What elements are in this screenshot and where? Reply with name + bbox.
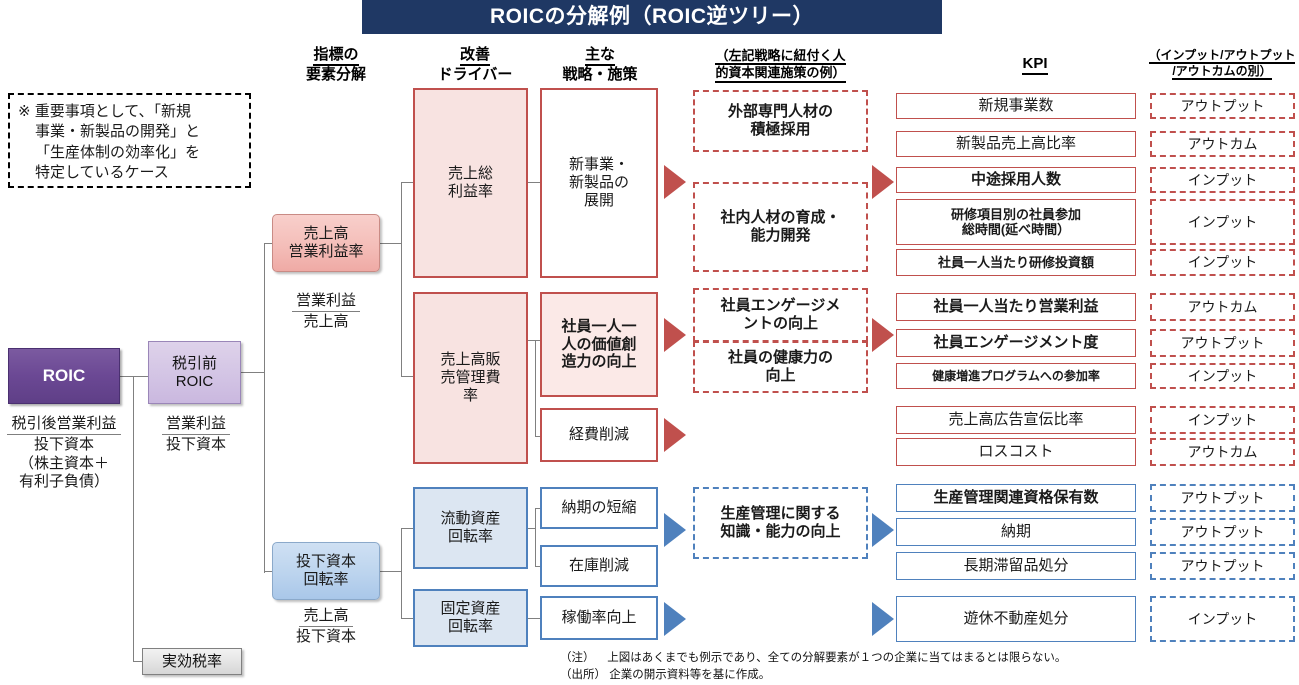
- column-header-line1: （インプット/アウトプット: [1149, 48, 1296, 64]
- footer-note-label: （注）: [560, 650, 604, 667]
- kpi-label: 社員一人当たり研修投資額: [938, 255, 1094, 270]
- hc-production-management-knowledge[interactable]: 生産管理に関する 知識・能力の向上: [693, 487, 868, 559]
- pretax-denominator: 投下資本: [140, 435, 252, 454]
- driver-current-asset-turnover[interactable]: 流動資産 回転率: [413, 487, 528, 569]
- driver-label: 売上高販 売管理費 率: [440, 351, 500, 404]
- note-line-1: ※ 重要事項として、「新規: [18, 102, 241, 122]
- roic-numerator: 税引後営業利益: [7, 415, 120, 435]
- kpi-label: 生産管理関連資格保有数: [933, 489, 1098, 507]
- type-label: アウトプット: [1181, 558, 1265, 575]
- roic-denominator: 投下資本: [0, 435, 128, 454]
- connector-current-vertical: [535, 508, 536, 566]
- type-output-5: アウトプット: [1150, 552, 1295, 580]
- kpi-label: 新規事業数: [978, 97, 1053, 115]
- note-line-3: 「生産体制の効率化」を: [18, 143, 241, 163]
- kpi-health-program-participation[interactable]: 健康増進プログラムへの参加率: [896, 363, 1136, 389]
- hc-employee-health[interactable]: 社員の健康力の 向上: [693, 341, 868, 393]
- connector-sga-vertical: [535, 340, 536, 436]
- column-header-line1: 指標の: [313, 46, 358, 66]
- hc-external-talent-hiring[interactable]: 外部専門人材の 積極採用: [693, 90, 868, 152]
- level2-denominator: 投下資本: [266, 627, 386, 646]
- hc-employee-engagement[interactable]: 社員エンゲージメ ントの向上: [693, 288, 868, 342]
- connector-salesop-vertical: [401, 182, 402, 376]
- roic-denominator-sub2: 有利子負債）: [0, 473, 128, 491]
- sales-operating-margin-box[interactable]: 売上高 営業利益率: [272, 214, 380, 272]
- column-header-improvement-driver: 改善 ドライバー: [420, 46, 530, 83]
- type-output-4: アウトプット: [1150, 518, 1295, 546]
- strategy-label: 在庫削減: [569, 557, 629, 575]
- footer-note-row: （注） 上図はあくまでも例示であり、全ての分解要素が１つの企業に当てはまるとは限…: [560, 650, 1280, 667]
- note-line-4: 特定しているケース: [18, 163, 241, 183]
- effective-tax-rate-box[interactable]: 実効税率: [142, 648, 242, 675]
- kpi-label: 新製品売上高比率: [956, 135, 1076, 153]
- arrow-strategy-to-hc-1: [664, 165, 686, 199]
- pretax-numerator: 営業利益: [162, 415, 230, 435]
- arrow-hc-to-kpi-1: [872, 165, 894, 199]
- footer-source-label: （出所）: [560, 669, 606, 681]
- strategy-cost-reduction[interactable]: 経費削減: [540, 408, 658, 462]
- kpi-label: 社員エンゲージメント度: [934, 334, 1099, 352]
- type-label: アウトプット: [1181, 490, 1265, 507]
- kpi-delivery-time[interactable]: 納期: [896, 518, 1136, 546]
- hc-label: 生産管理に関する 知識・能力の向上: [720, 505, 840, 540]
- footer-source-text: 企業の開示資料等を基に作成。: [609, 669, 770, 681]
- level2-line2: 営業利益率: [288, 243, 363, 260]
- pretax-roic-line2: ROIC: [176, 373, 214, 390]
- column-header-line2: 戦略・施策: [562, 66, 637, 83]
- kpi-label: 研修項目別の社員参加 総時間(延べ時間）: [951, 207, 1081, 238]
- level2-line1: 投下資本: [296, 553, 356, 570]
- type-label: アウトカム: [1188, 299, 1258, 316]
- kpi-label: 中途採用人数: [971, 171, 1061, 189]
- hc-label: 社内人材の育成・ 能力開発: [720, 209, 840, 244]
- column-header-line1: KPI: [1022, 55, 1047, 75]
- strategy-label: 新事業・ 新製品の 展開: [569, 156, 629, 209]
- kpi-long-term-stagnant-disposal[interactable]: 長期滞留品処分: [896, 552, 1136, 580]
- arrow-strategy-to-hc-3: [664, 513, 686, 547]
- kpi-label: ロスコスト: [978, 443, 1053, 461]
- type-label: インプット: [1188, 172, 1258, 189]
- strategy-shorten-lead-time[interactable]: 納期の短縮: [540, 487, 658, 529]
- kpi-production-qualifications[interactable]: 生産管理関連資格保有数: [896, 484, 1136, 512]
- hc-label: 社員エンゲージメ ントの向上: [721, 297, 841, 332]
- connector-pretax-vertical: [264, 243, 265, 573]
- strategy-utilization-improvement[interactable]: 稼働率向上: [540, 596, 658, 640]
- arrow-strategy-to-kpi-costred: [664, 418, 686, 452]
- column-header-line2: 要素分解: [306, 66, 366, 83]
- level2-line1: 売上高: [303, 225, 348, 242]
- footer-source-row: （出所） 企業の開示資料等を基に作成。: [560, 667, 1280, 684]
- type-input-1: インプット: [1150, 167, 1295, 193]
- column-header-human-capital-measures: （左記戦略に紐付く人 的資本関連施策の例）: [683, 48, 878, 83]
- kpi-training-investment-per-employee[interactable]: 社員一人当たり研修投資額: [896, 249, 1136, 276]
- column-header-line2: 的資本関連施策の例）: [715, 65, 845, 82]
- type-outcome-2: アウトカム: [1150, 293, 1295, 321]
- kpi-new-business-count[interactable]: 新規事業数: [896, 93, 1136, 119]
- kpi-new-product-sales-ratio[interactable]: 新製品売上高比率: [896, 131, 1136, 157]
- strategy-label: 稼働率向上: [561, 609, 636, 627]
- kpi-label: 健康増進プログラムへの参加率: [932, 369, 1100, 383]
- roic-box[interactable]: ROIC: [8, 348, 120, 404]
- kpi-label: 社員一人当たり営業利益: [933, 298, 1098, 316]
- column-header-line1: （左記戦略に紐付く人: [715, 48, 845, 65]
- hc-label: 社員の健康力の 向上: [728, 349, 833, 384]
- arrow-hc-to-kpi-2: [872, 318, 894, 352]
- level2-numerator: 営業利益: [292, 292, 360, 312]
- arrow-hc-to-kpi-4: [872, 602, 894, 636]
- type-label: アウトカム: [1188, 136, 1258, 153]
- type-input-3: インプット: [1150, 249, 1295, 276]
- note-line-2: 事業・新製品の開発」と: [18, 122, 241, 142]
- type-label: インプット: [1188, 368, 1258, 385]
- strategy-label: 経費削減: [569, 426, 629, 444]
- kpi-label: 納期: [1001, 523, 1031, 541]
- column-header-line1: 改善: [460, 46, 490, 66]
- invested-capital-turnover-box[interactable]: 投下資本 回転率: [272, 542, 380, 600]
- strategy-label: 納期の短縮: [561, 499, 636, 517]
- type-label: アウトプット: [1181, 524, 1265, 541]
- type-label: アウトプット: [1181, 98, 1265, 115]
- connector-to-current-asset: [401, 528, 413, 529]
- pretax-roic-box[interactable]: 税引前 ROIC: [148, 341, 241, 404]
- sales-operating-margin-formula: 営業利益 売上高: [266, 292, 386, 332]
- pretax-roic-formula: 営業利益 投下資本: [140, 415, 252, 455]
- connector-roic-vertical: [133, 376, 134, 661]
- strategy-employee-value-creation[interactable]: 社員一人一 人の価値創 造力の向上: [540, 292, 658, 397]
- type-input-2: インプット: [1150, 199, 1295, 245]
- hc-internal-talent-development[interactable]: 社内人材の育成・ 能力開発: [693, 182, 868, 272]
- column-header-input-output-outcome: （インプット/アウトプット /アウトカムの別）: [1146, 48, 1298, 80]
- kpi-operating-profit-per-employee[interactable]: 社員一人当たり営業利益: [896, 293, 1136, 321]
- hc-label: 外部専門人材の 積極採用: [728, 103, 833, 138]
- level2-denominator: 売上高: [266, 312, 386, 331]
- driver-label: 売上総 利益率: [448, 165, 493, 200]
- column-header-main-strategy: 主な 戦略・施策: [545, 46, 655, 83]
- kpi-label: 売上高広告宣伝比率: [948, 411, 1083, 429]
- type-label: インプット: [1188, 412, 1258, 429]
- connector-capturn-vertical: [401, 528, 402, 618]
- kpi-employee-engagement-score[interactable]: 社員エンゲージメント度: [896, 329, 1136, 357]
- kpi-idle-real-estate-disposal[interactable]: 遊休不動産処分: [896, 596, 1136, 642]
- type-label: インプット: [1188, 254, 1258, 271]
- pretax-roic-line1: 税引前: [172, 355, 217, 372]
- strategy-new-business-products[interactable]: 新事業・ 新製品の 展開: [540, 88, 658, 278]
- connector-roic-pretax: [120, 376, 148, 377]
- level2-numerator: 売上高: [299, 607, 352, 627]
- type-output-1: アウトプット: [1150, 93, 1295, 119]
- strategy-inventory-reduction[interactable]: 在庫削減: [540, 545, 658, 587]
- type-label: インプット: [1188, 214, 1258, 231]
- strategy-label: 社員一人一 人の価値創 造力の向上: [561, 318, 636, 371]
- driver-label: 流動資産 回転率: [440, 510, 500, 545]
- type-input-6: インプット: [1150, 596, 1295, 642]
- footer-notes: （注） 上図はあくまでも例示であり、全ての分解要素が１つの企業に当てはまるとは限…: [560, 650, 1280, 685]
- driver-gross-profit-margin[interactable]: 売上総 利益率: [413, 88, 528, 278]
- type-outcome-3: アウトカム: [1150, 438, 1295, 466]
- type-label: アウトカム: [1188, 444, 1258, 461]
- kpi-label: 長期滞留品処分: [963, 557, 1068, 575]
- driver-fixed-asset-turnover[interactable]: 固定資産 回転率: [413, 589, 528, 647]
- driver-sga-ratio[interactable]: 売上高販 売管理費 率: [413, 292, 528, 464]
- connector-gross-to-strategy: [528, 182, 540, 183]
- kpi-advertising-to-sales-ratio[interactable]: 売上高広告宣伝比率: [896, 406, 1136, 434]
- connector-to-gross-margin: [401, 182, 413, 183]
- roic-denominator-sub1: （株主資本＋: [0, 455, 128, 473]
- level2-line2: 回転率: [303, 571, 348, 588]
- column-header-line2: /アウトカムの別）: [1172, 64, 1271, 80]
- connector-pretax-out: [241, 372, 265, 373]
- column-header-metric-decomposition: 指標の 要素分解: [284, 46, 388, 83]
- arrow-strategy-to-hc-2: [664, 318, 686, 352]
- column-header-kpi: KPI: [940, 55, 1130, 75]
- connector-fixed-to-strategy: [528, 618, 540, 619]
- footer-note-text: 上図はあくまでも例示であり、全ての分解要素が１つの企業に当てはまるとは限らない。: [607, 652, 1066, 664]
- type-output-2: アウトプット: [1150, 329, 1295, 357]
- column-header-line2: ドライバー: [438, 66, 513, 83]
- driver-label: 固定資産 回転率: [440, 600, 500, 635]
- type-label: アウトプット: [1181, 335, 1265, 352]
- type-outcome-1: アウトカム: [1150, 131, 1295, 157]
- connector-salesop-out: [380, 243, 402, 244]
- kpi-label: 遊休不動産処分: [963, 610, 1068, 628]
- kpi-training-participation-hours[interactable]: 研修項目別の社員参加 総時間(延べ時間）: [896, 199, 1136, 245]
- connector-capturn-out: [380, 571, 402, 572]
- connector-to-fixed-asset: [401, 618, 413, 619]
- roic-formula: 税引後営業利益 投下資本 （株主資本＋ 有利子負債）: [0, 415, 128, 491]
- connector-to-sga: [401, 376, 413, 377]
- column-header-line1: 主な: [585, 46, 615, 66]
- kpi-loss-cost[interactable]: ロスコスト: [896, 438, 1136, 466]
- invested-capital-turnover-formula: 売上高 投下資本: [266, 607, 386, 647]
- type-label: インプット: [1188, 611, 1258, 628]
- arrow-strategy-to-kpi-idle: [664, 602, 686, 636]
- important-note-box: ※ 重要事項として、「新規 事業・新製品の開発」と 「生産体制の効率化」を 特定…: [8, 93, 251, 188]
- kpi-mid-career-hires[interactable]: 中途採用人数: [896, 167, 1136, 193]
- type-input-4: インプット: [1150, 363, 1295, 389]
- arrow-hc-to-kpi-3: [872, 513, 894, 547]
- type-output-3: アウトプット: [1150, 484, 1295, 512]
- type-input-5: インプット: [1150, 406, 1295, 434]
- page-title: ROICの分解例（ROIC逆ツリー）: [362, 0, 942, 34]
